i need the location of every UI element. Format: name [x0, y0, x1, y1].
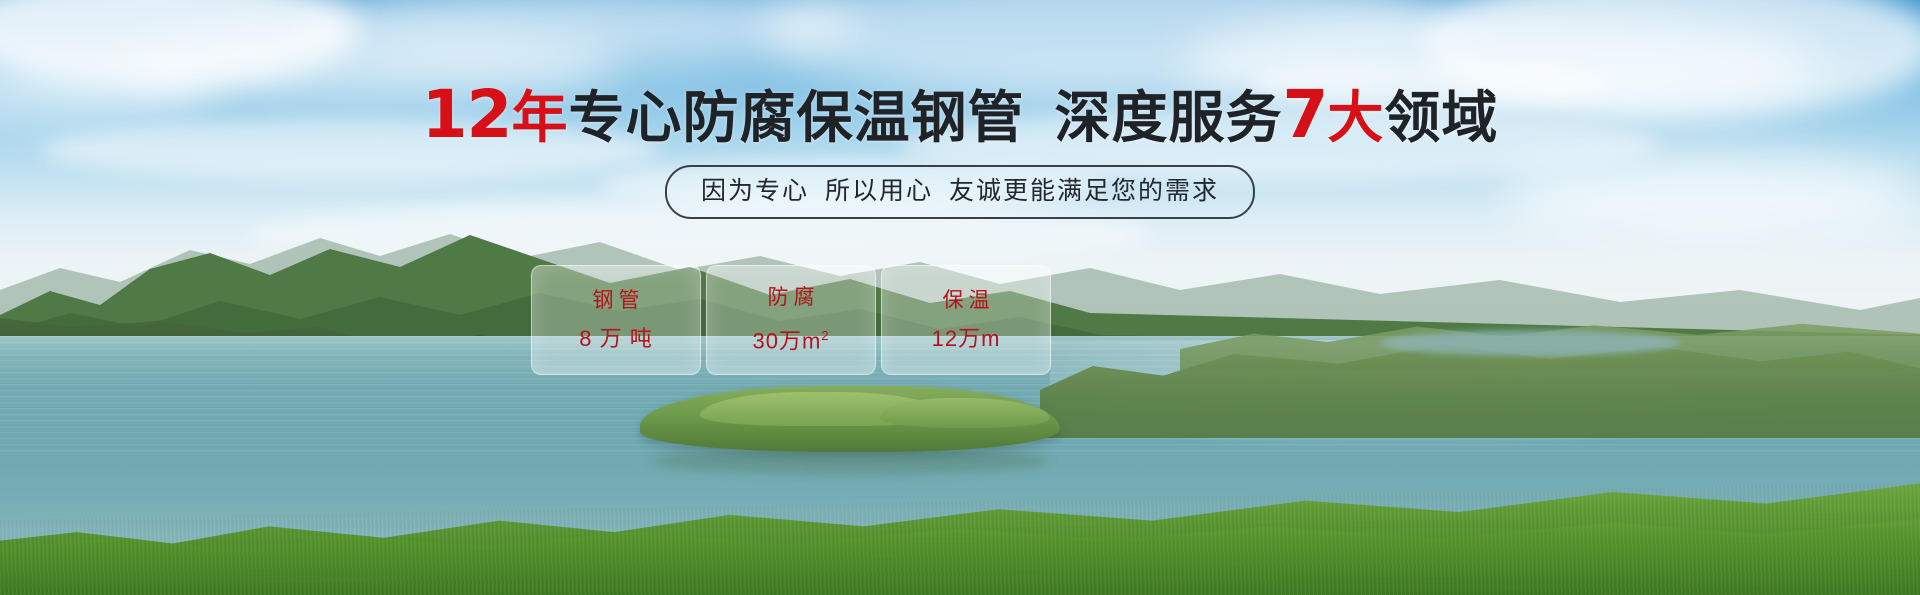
banner-headline: 12年专心防腐保温钢管深度服务7大领域	[0, 84, 1920, 149]
headline-years-unit: 年	[511, 86, 568, 149]
stat-card-anticorrosion[interactable]: 防腐 30万m2	[706, 265, 876, 375]
wetland-pool	[1380, 330, 1680, 356]
stat-card-value-superscript: 2	[821, 328, 829, 343]
promo-banner: 12年专心防腐保温钢管深度服务7大领域 因为专心所以用心友诚更能满足您的需求 钢…	[0, 0, 1920, 595]
subtitle-part-3: 友诚更能满足您的需求	[949, 177, 1219, 205]
stat-card-value: 8 万 吨	[579, 327, 652, 351]
headline-main-text: 专心防腐保温钢管	[568, 86, 1024, 149]
subtitle-pill: 因为专心所以用心友诚更能满足您的需求	[665, 165, 1255, 219]
stat-card-group: 钢管 8 万 吨 防腐 30万m2 保温 12万m	[531, 265, 1051, 375]
headline-fields-number: 7	[1282, 76, 1327, 153]
headline-years-number: 12	[422, 76, 512, 153]
stat-card-title: 保温	[938, 289, 995, 313]
stat-card-value-text: 30万m	[752, 329, 821, 354]
stat-card-title: 防腐	[763, 286, 820, 310]
headline-fields-unit: 大	[1327, 86, 1384, 149]
stat-card-value-text: 8 万 吨	[579, 326, 652, 351]
stat-card-title: 钢管	[588, 289, 645, 313]
stat-card-value: 30万m2	[752, 324, 829, 353]
subtitle-part-1: 因为专心	[701, 177, 809, 205]
stat-card-insulation[interactable]: 保温 12万m	[881, 265, 1051, 375]
subtitle-part-2: 所以用心	[825, 177, 933, 205]
headline-fields-tail: 领域	[1384, 86, 1498, 149]
headline-service-text: 深度服务	[1054, 86, 1282, 149]
stat-card-value: 12万m	[932, 327, 1001, 351]
stat-card-steel-pipe[interactable]: 钢管 8 万 吨	[531, 265, 701, 375]
stat-card-value-text: 12万m	[932, 326, 1001, 351]
